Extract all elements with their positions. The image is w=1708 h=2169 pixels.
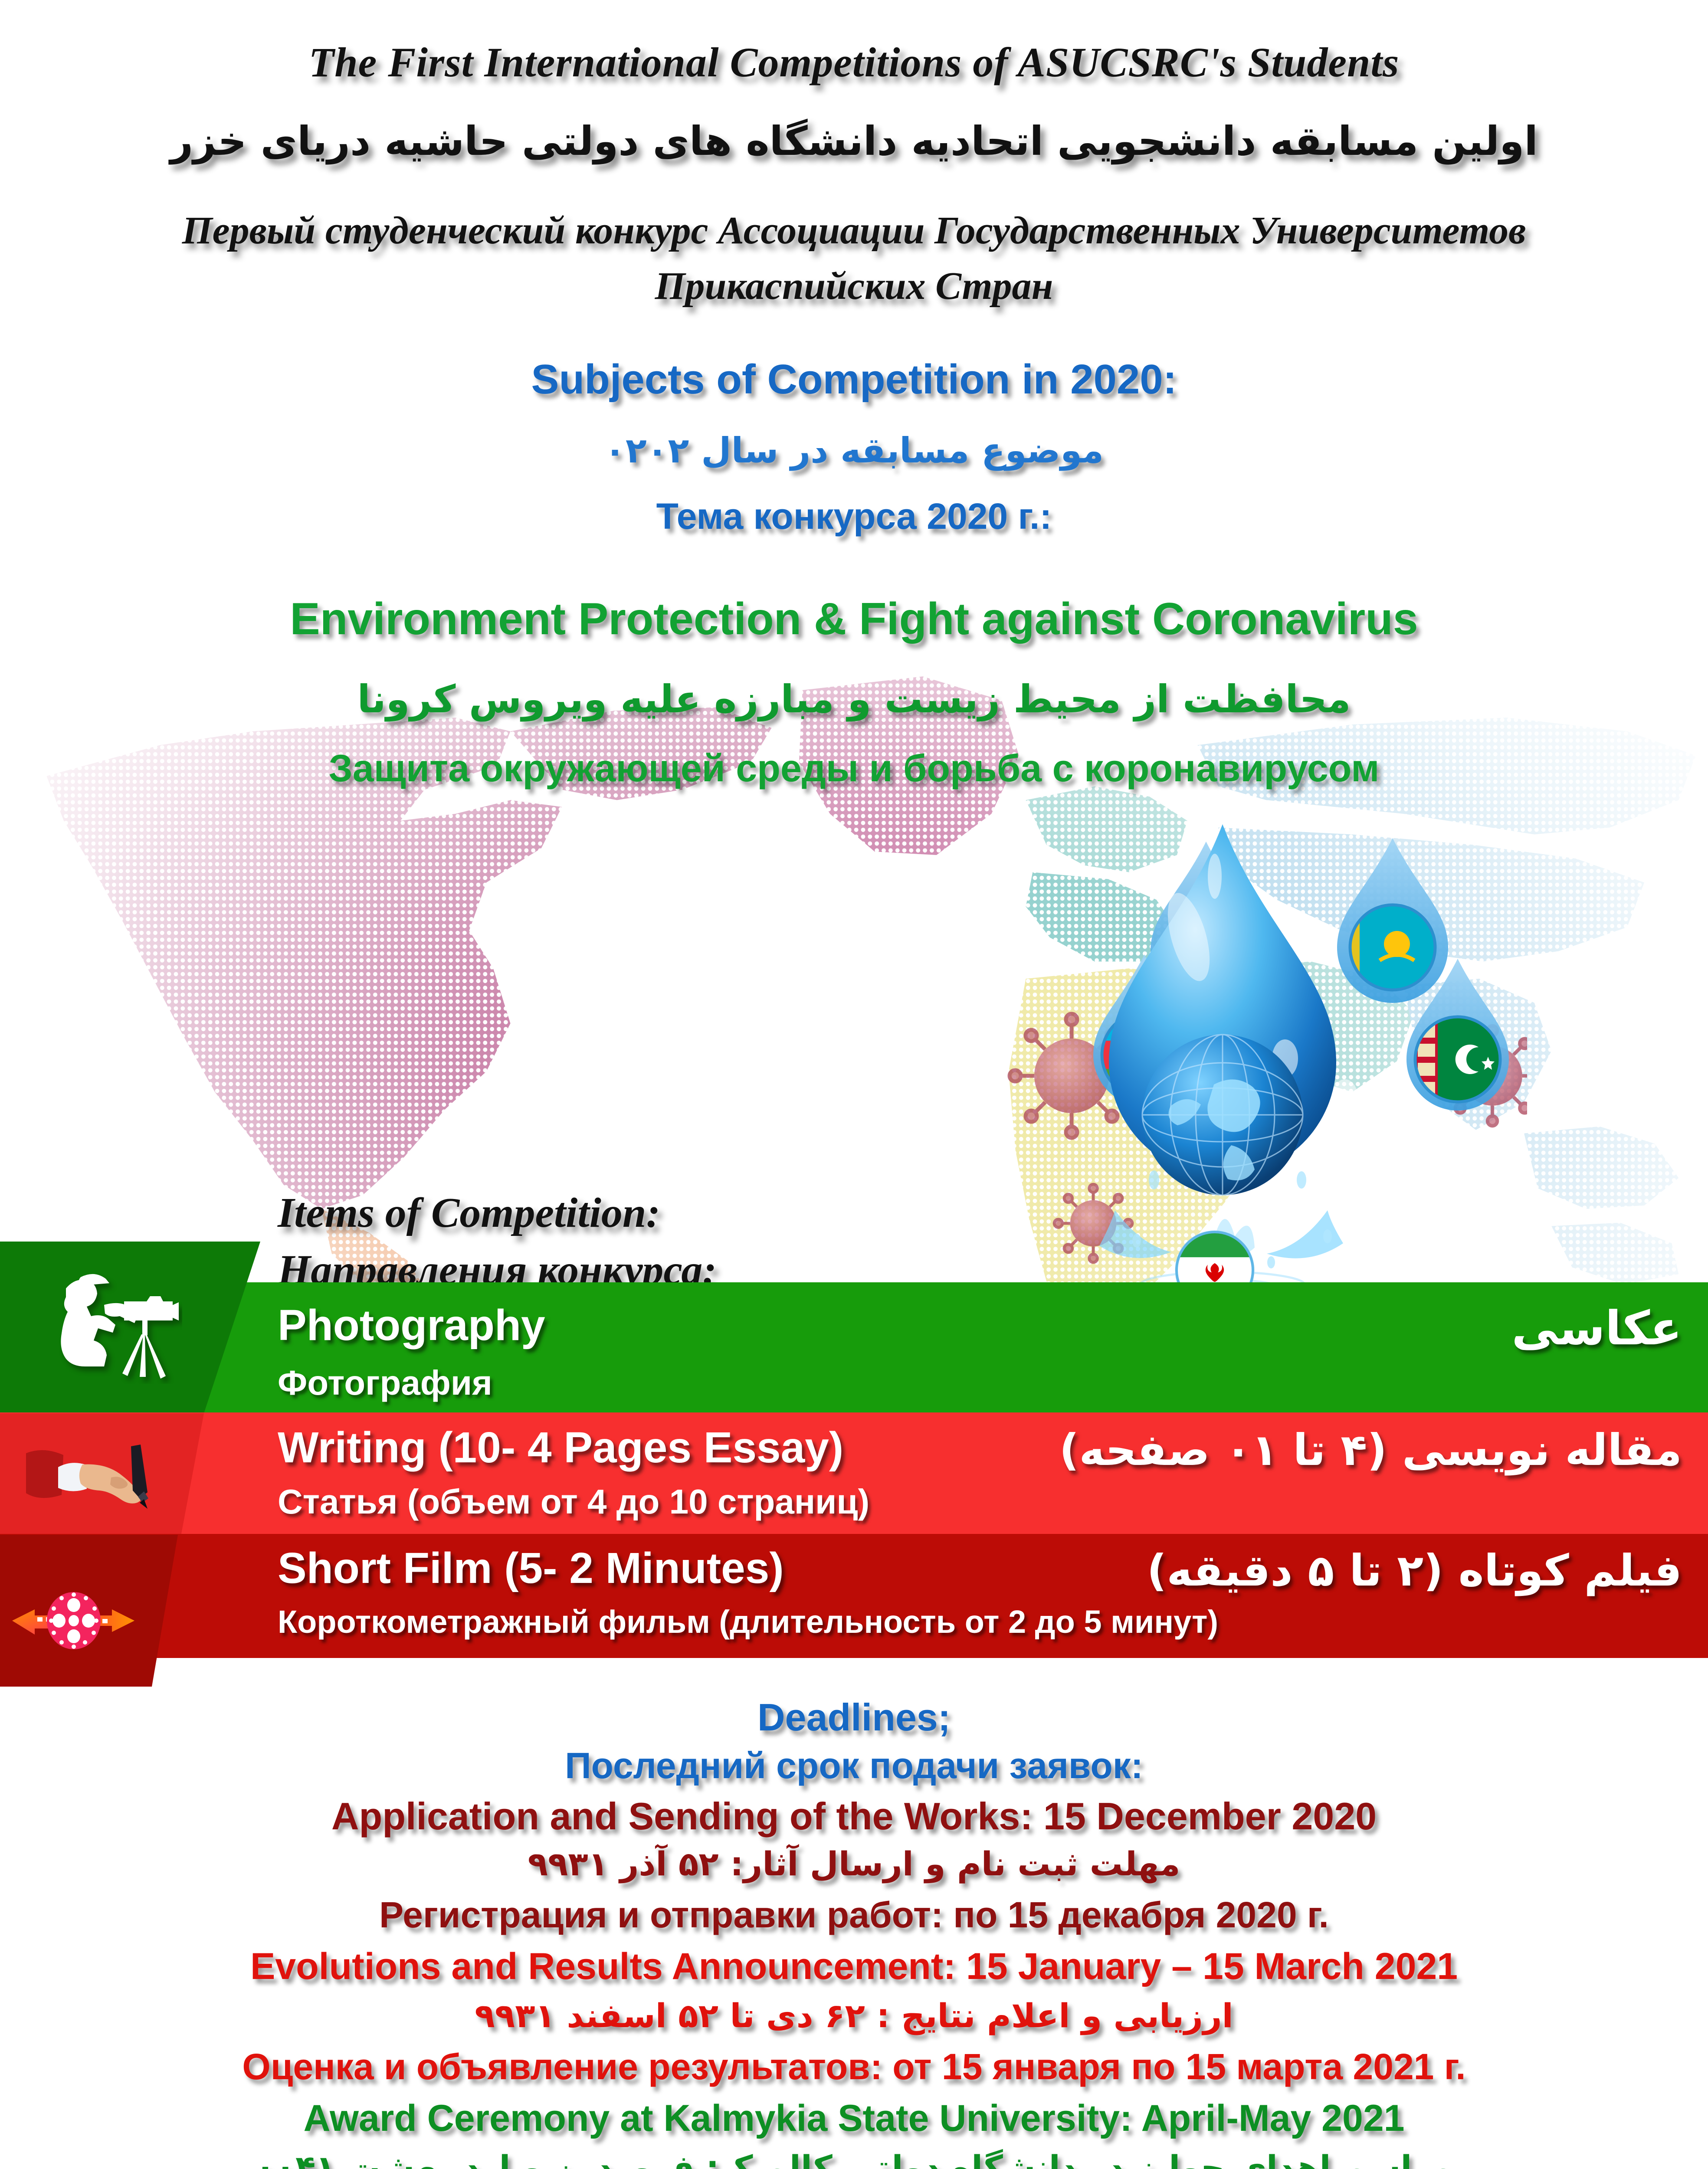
deadline-1-fa: مهلت ثبت نام و ارسال آثار: ۲۵ آذر ۱۳۹۹	[0, 1845, 1708, 1883]
item-label-ru-photography: Фотография	[278, 1363, 492, 1403]
film-reel-icon	[9, 1579, 139, 1657]
deadline-2-en: Evolutions and Results Announcement: 15 …	[0, 1945, 1708, 1988]
theme-fa: محافظت از محیط زیست و مبارزه علیه ویروس …	[0, 677, 1708, 721]
page-title-en: The First International Competitions of …	[0, 38, 1708, 86]
water-droplet-globe-graphic	[911, 798, 1527, 1332]
page-title-fa: اولین مسابقه دانشجویی اتحادیه دانشگاه ها…	[0, 118, 1708, 164]
deadline-1-en: Application and Sending of the Works: 15…	[0, 1794, 1708, 1838]
item-label-ru-short-film: Короткометражный фильм (длительность от …	[278, 1603, 1218, 1640]
item-label-fa-short-film: فیلم کوتاه (۲ تا ۵ دقیقه)	[1147, 1545, 1682, 1596]
deadline-3-fa: مراسم اهدای جوایز در دانشگاه دولتی کالمی…	[0, 2148, 1708, 2169]
subjects-label-en: Subjects of Competition in 2020:	[0, 356, 1708, 403]
theme-ru: Защита окружающей среды и борьба с корон…	[0, 746, 1708, 790]
hand-writing-pen-icon	[26, 1445, 174, 1523]
page-title-ru-line2: Прикаспийских Стран	[0, 264, 1708, 308]
theme-en: Environment Protection & Fight against C…	[0, 593, 1708, 645]
item-label-ru-writing: Статья (объем от 4 до 10 страниц)	[278, 1482, 869, 1522]
photographer-camera-icon	[39, 1271, 182, 1384]
deadline-2-ru: Оценка и объявление результатов: от 15 я…	[0, 2046, 1708, 2088]
subjects-label-ru: Тема конкурса 2020 г.:	[0, 495, 1708, 537]
items-heading-en: Items of Competition:	[278, 1189, 660, 1237]
item-label-en-photography: Photography	[278, 1301, 545, 1350]
deadline-2-fa: ارزیابی و اعلام نتایج : ۲۶ دی تا ۲۵ اسفن…	[0, 1996, 1708, 2035]
item-label-en-short-film: Short Film (5- 2 Minutes)	[278, 1543, 784, 1593]
flag-droplet-kazakhstan	[1337, 838, 1448, 1003]
item-band-short-film: Short Film (5- 2 Minutes) Короткометражн…	[0, 1534, 1708, 1658]
item-label-fa-photography: عکاسی	[1511, 1301, 1682, 1356]
deadlines-heading-en: Deadlines;	[0, 1695, 1708, 1740]
item-band-writing: Writing (10- 4 Pages Essay) Статья (объе…	[0, 1412, 1708, 1534]
poster-root: The First International Competitions of …	[0, 0, 1708, 2169]
globe-icon	[1142, 1035, 1303, 1195]
page-title-ru-line1: Первый студенческий конкурс Ассоциации Г…	[0, 208, 1708, 253]
subjects-label-fa: موضوع مسابقه در سال ۲۰۲۰	[0, 430, 1708, 471]
deadlines-heading-ru: Последний срок подачи заявок:	[0, 1745, 1708, 1787]
item-label-en-writing: Writing (10- 4 Pages Essay)	[278, 1423, 843, 1473]
deadline-3-en: Award Ceremony at Kalmykia State Univers…	[0, 2097, 1708, 2140]
item-label-fa-writing: مقاله نویسی (۴ تا ۱۰ صفحه)	[1059, 1425, 1682, 1475]
item-band-photography: Photography Фотография عکاسی	[0, 1282, 1708, 1412]
deadline-1-ru: Регистрация и отправки работ: по 15 дека…	[0, 1894, 1708, 1936]
